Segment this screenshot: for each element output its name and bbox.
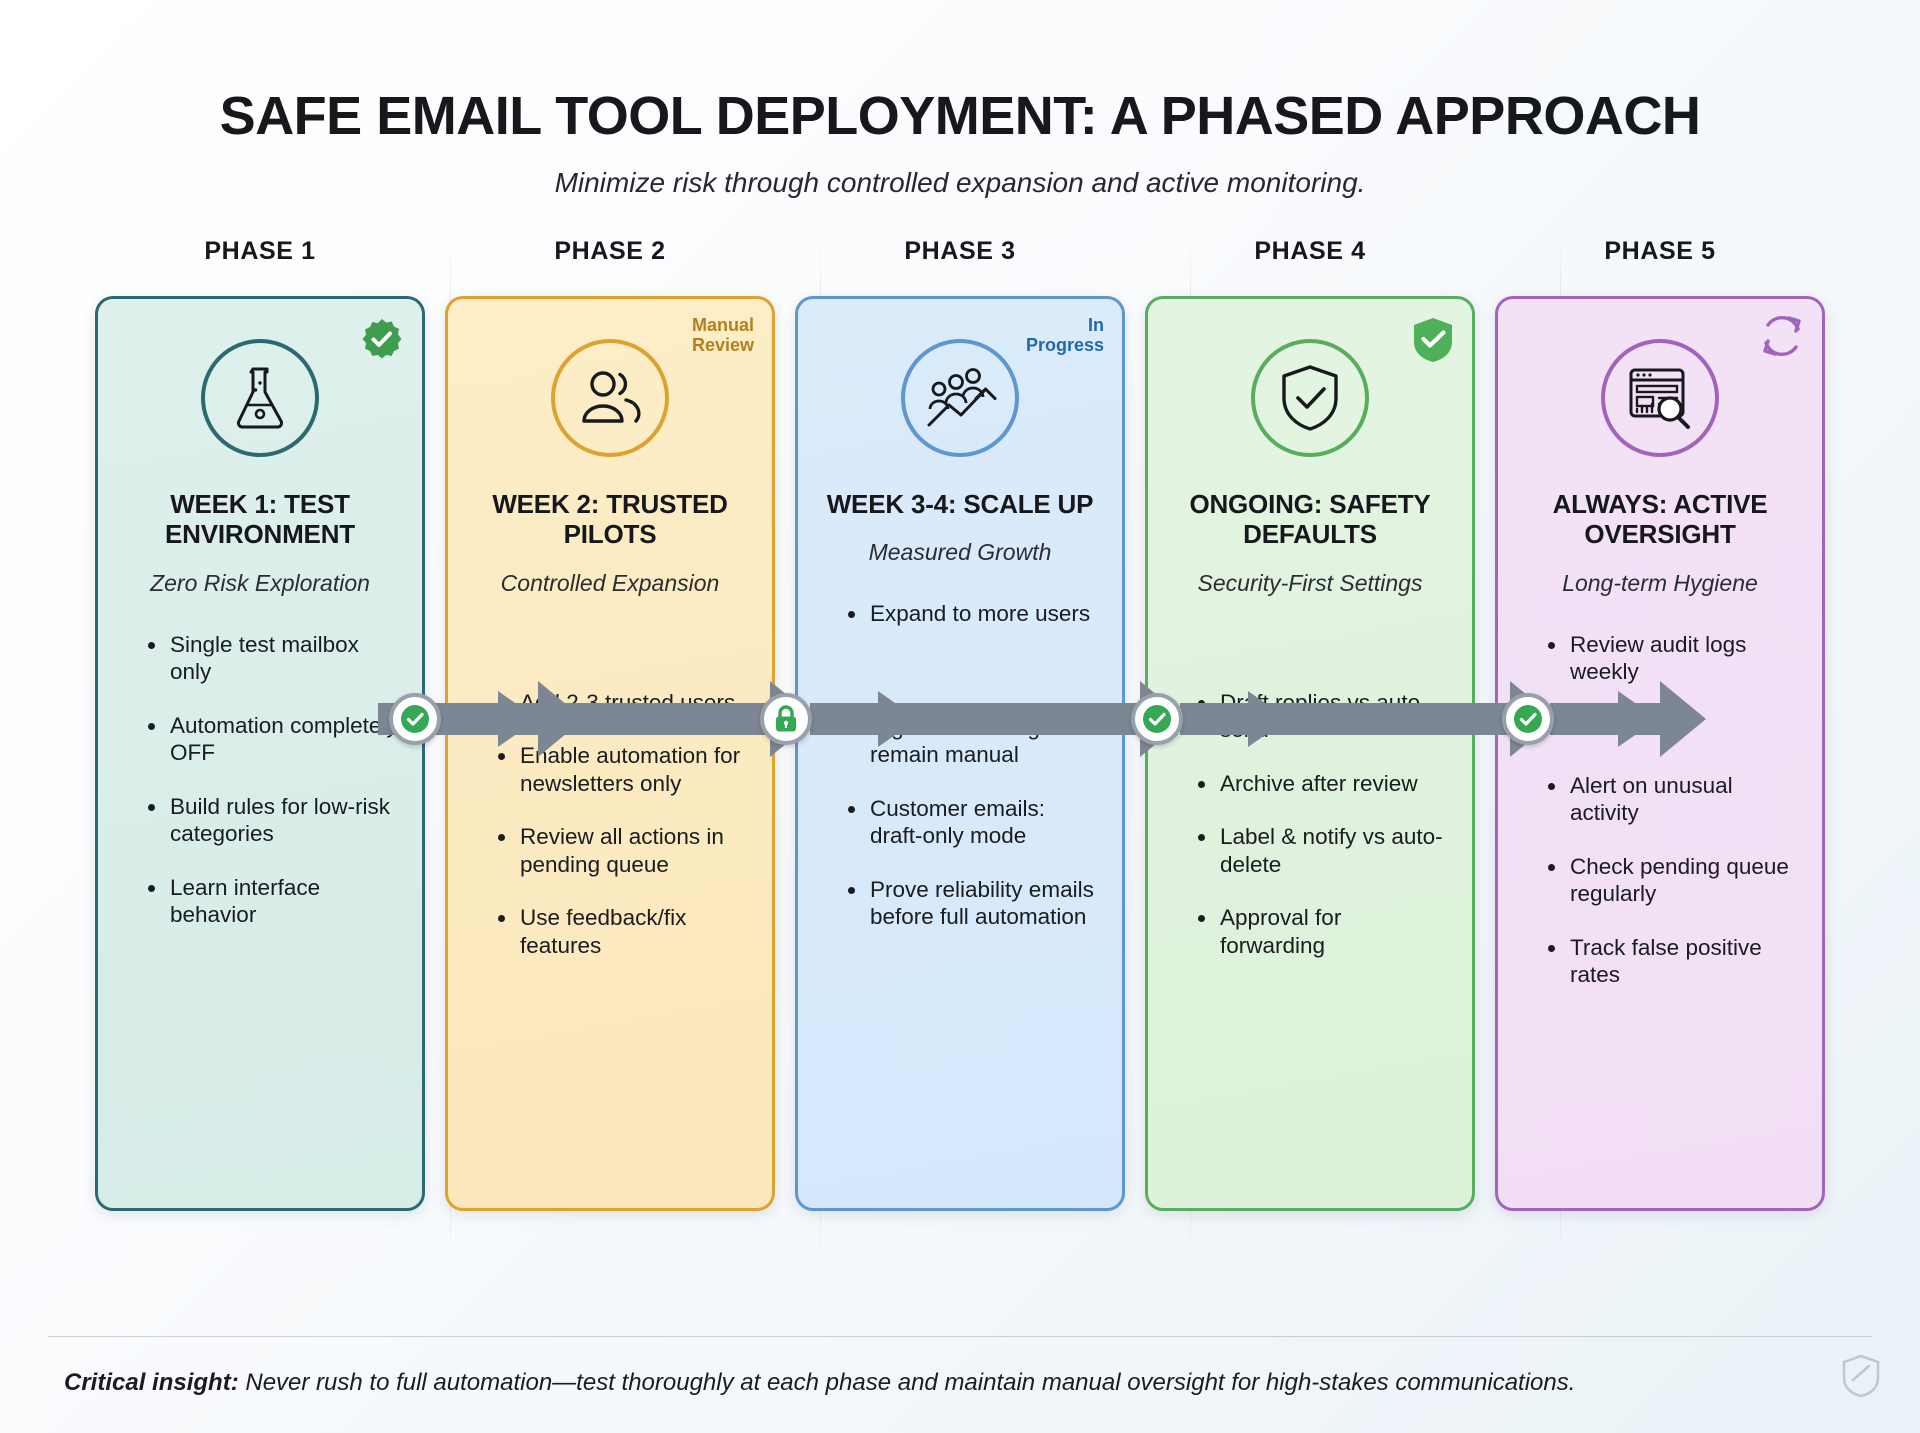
phase-title-2: WEEK 2: TRUSTED PILOTS xyxy=(468,489,752,550)
list-item: Build rules for low-risk categories xyxy=(148,793,402,848)
list-item: Automation completely OFF xyxy=(148,712,402,767)
list-item: Higher-risk categories remain manual xyxy=(848,714,1102,769)
verified-check-badge-icon xyxy=(360,317,404,361)
phase-title-5: ALWAYS: ACTIVE OVERSIGHT xyxy=(1518,489,1802,550)
phase-title-4: ONGOING: SAFETY DEFAULTS xyxy=(1168,489,1452,550)
phase-card-4[interactable]: ONGOING: SAFETY DEFAULTS Security-First … xyxy=(1145,296,1475,1211)
list-item: Review all actions in pending queue xyxy=(498,823,752,878)
phase-card-1[interactable]: WEEK 1: TEST ENVIRONMENT Zero Risk Explo… xyxy=(95,296,425,1211)
list-item: Check pending queue regularly xyxy=(1548,853,1802,908)
phase-subtitle-1: Zero Risk Exploration xyxy=(118,570,402,597)
phase-column-2: PHASE 2 Manual Review WEEK 2: TRUSTED PI… xyxy=(445,237,775,1211)
phase-columns: PHASE 1 WEEK 1 xyxy=(40,237,1880,1211)
shield-check-icon xyxy=(1251,339,1369,457)
in-progress-badge: In Progress xyxy=(1012,315,1104,355)
footer-lead: Critical insight: xyxy=(64,1369,239,1396)
list-item: Approval for forwarding xyxy=(1198,904,1452,959)
list-item: Expand to more users xyxy=(848,600,1102,627)
footer-note: Critical insight: Never rush to full aut… xyxy=(64,1369,1856,1397)
list-item: Track false positive rates xyxy=(1548,934,1802,989)
phase-column-5: PHASE 5 xyxy=(1495,237,1825,1211)
flask-icon xyxy=(201,339,319,457)
users-icon xyxy=(551,339,669,457)
list-item: Single test mailbox only xyxy=(148,631,402,686)
phase-card-5[interactable]: ALWAYS: ACTIVE OVERSIGHT Long-term Hygie… xyxy=(1495,296,1825,1211)
phase-column-1: PHASE 1 WEEK 1 xyxy=(95,237,425,1211)
list-item: Learn interface behavior xyxy=(148,874,402,929)
dashboard-audit-search-icon xyxy=(1601,339,1719,457)
shield-badge-icon xyxy=(1412,317,1454,363)
phase-subtitle-3: Measured Growth xyxy=(818,539,1102,566)
growth-users-chart-icon xyxy=(901,339,1019,457)
phase-label-1: PHASE 1 xyxy=(95,237,425,266)
phase-subtitle-5: Long-term Hygiene xyxy=(1518,570,1802,597)
phase-label-3: PHASE 3 xyxy=(795,237,1125,266)
phases-board: PHASE 1 WEEK 1 xyxy=(40,237,1880,1257)
phase-bullets-1: Single test mailbox only Automation comp… xyxy=(118,631,402,929)
phase-bullets-4: Draft replies vs auto-send Archive after… xyxy=(1168,689,1452,959)
page-subtitle: Minimize risk through controlled expansi… xyxy=(0,167,1920,199)
list-item: Use feedback/fix features xyxy=(498,904,752,959)
footer-text: Never rush to full automation—test thoro… xyxy=(239,1369,1576,1396)
list-item: Alert on unusual activity xyxy=(1548,772,1802,827)
phase-column-3: PHASE 3 In Progress WEEK 3-4: SCA xyxy=(795,237,1125,1211)
list-item: Label & notify vs auto-delete xyxy=(1198,823,1452,878)
list-item: Prove reliability emails before full aut… xyxy=(848,876,1102,931)
phase-title-3: WEEK 3-4: SCALE UP xyxy=(818,489,1102,520)
phase-card-2[interactable]: Manual Review WEEK 2: TRUSTED PILOTS Con… xyxy=(445,296,775,1211)
footer-divider xyxy=(48,1336,1872,1337)
phase-label-4: PHASE 4 xyxy=(1145,237,1475,266)
phase-title-1: WEEK 1: TEST ENVIRONMENT xyxy=(118,489,402,550)
phase-card-3[interactable]: In Progress WEEK 3-4: SCALE UP Measured xyxy=(795,296,1125,1211)
phase-label-5: PHASE 5 xyxy=(1495,237,1825,266)
list-item: Add 2-3 trusted users xyxy=(498,689,752,716)
page-title: SAFE EMAIL TOOL DEPLOYMENT: A PHASED APP… xyxy=(0,88,1920,145)
brand-logo-icon xyxy=(1842,1354,1880,1403)
phase-subtitle-4: Security-First Settings xyxy=(1168,570,1452,597)
phase-column-4: PHASE 4 ONGOING: SAFETY DEFAULTS Securit… xyxy=(1145,237,1475,1211)
manual-review-badge: Manual Review xyxy=(662,315,754,355)
list-item: Archive after review xyxy=(1198,770,1452,797)
refresh-cycle-icon xyxy=(1758,313,1806,359)
phase-subtitle-2: Controlled Expansion xyxy=(468,570,752,597)
phase-bullets-3: Expand to more users Higher-risk categor… xyxy=(818,600,1102,930)
list-item: Draft replies vs auto-send xyxy=(1198,689,1452,744)
list-item: Review audit logs weekly xyxy=(1548,631,1802,686)
page-header: SAFE EMAIL TOOL DEPLOYMENT: A PHASED APP… xyxy=(0,0,1920,199)
phase-label-2: PHASE 2 xyxy=(445,237,775,266)
list-item: Enable automation for newsletters only xyxy=(498,742,752,797)
phase-bullets-5: Review audit logs weekly Alert on unusua… xyxy=(1518,631,1802,989)
list-item: Customer emails: draft-only mode xyxy=(848,795,1102,850)
phase-bullets-2: Add 2-3 trusted users Enable automation … xyxy=(468,689,752,959)
